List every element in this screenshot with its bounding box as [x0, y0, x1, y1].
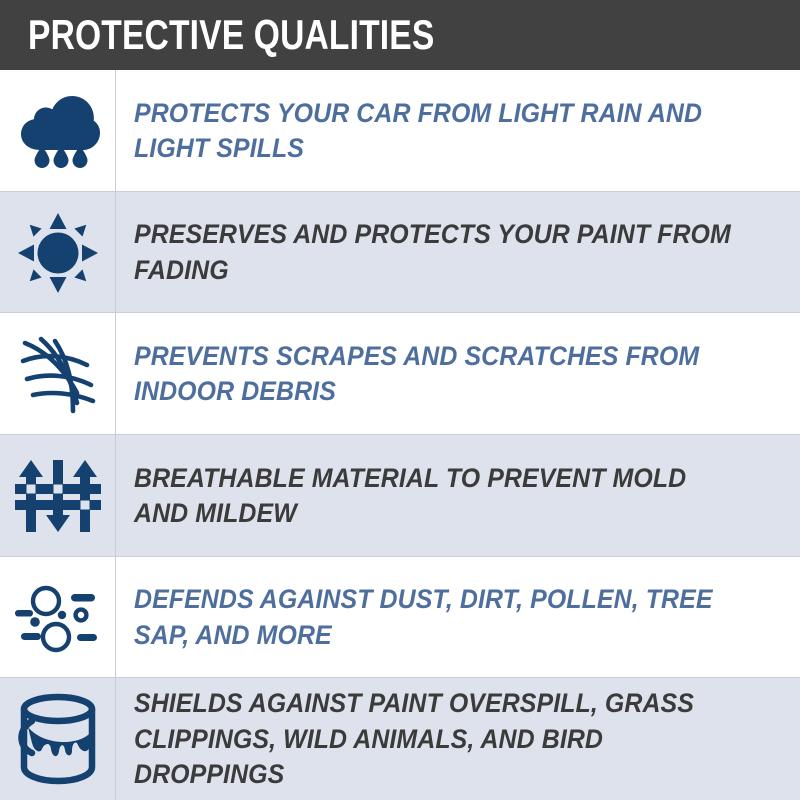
dust-particles-icon	[13, 581, 103, 655]
feature-text: BREATHABLE MATERIAL TO PREVENT MOLD AND …	[134, 461, 743, 531]
breathable-airflow-arrows-icon	[15, 458, 101, 534]
rain-cloud-icon	[16, 91, 100, 171]
paint-bucket-icon	[16, 693, 100, 785]
text-cell: PROTECTS YOUR CAR FROM LIGHT RAIN AND LI…	[116, 70, 800, 192]
icon-cell	[0, 313, 116, 435]
text-cell: PREVENTS SCRAPES AND SCRATCHES FROM INDO…	[116, 313, 800, 435]
feature-row-sun: PRESERVES AND PROTECTS YOUR PAINT FROM F…	[0, 192, 800, 314]
feature-row-rain: PROTECTS YOUR CAR FROM LIGHT RAIN AND LI…	[0, 70, 800, 192]
feature-row-paint: SHIELDS AGAINST PAINT OVERSPILL, GRASS C…	[0, 678, 800, 800]
text-cell: PRESERVES AND PROTECTS YOUR PAINT FROM F…	[116, 192, 800, 314]
feature-text: DEFENDS AGAINST DUST, DIRT, POLLEN, TREE…	[134, 582, 743, 652]
protective-qualities-infographic: PROTECTIVE QUALITIES PRO	[0, 0, 800, 800]
feature-text: PREVENTS SCRAPES AND SCRATCHES FROM INDO…	[134, 339, 743, 409]
header-bar: PROTECTIVE QUALITIES	[0, 0, 800, 70]
page-title: PROTECTIVE QUALITIES	[28, 14, 434, 56]
text-cell: BREATHABLE MATERIAL TO PREVENT MOLD AND …	[116, 435, 800, 557]
icon-cell	[0, 557, 116, 679]
feature-row-dust: DEFENDS AGAINST DUST, DIRT, POLLEN, TREE…	[0, 557, 800, 679]
feature-text: PRESERVES AND PROTECTS YOUR PAINT FROM F…	[134, 217, 743, 287]
icon-cell	[0, 678, 116, 800]
scratch-mesh-icon	[15, 331, 101, 417]
sun-icon	[18, 213, 98, 293]
feature-row-scratches: PREVENTS SCRAPES AND SCRATCHES FROM INDO…	[0, 313, 800, 435]
feature-list: PROTECTS YOUR CAR FROM LIGHT RAIN AND LI…	[0, 70, 800, 800]
icon-cell	[0, 192, 116, 314]
icon-cell	[0, 70, 116, 192]
feature-text: PROTECTS YOUR CAR FROM LIGHT RAIN AND LI…	[134, 96, 743, 166]
feature-text: SHIELDS AGAINST PAINT OVERSPILL, GRASS C…	[134, 686, 743, 792]
text-cell: DEFENDS AGAINST DUST, DIRT, POLLEN, TREE…	[116, 557, 800, 679]
text-cell: SHIELDS AGAINST PAINT OVERSPILL, GRASS C…	[116, 678, 800, 800]
icon-cell	[0, 435, 116, 557]
feature-row-breathable: BREATHABLE MATERIAL TO PREVENT MOLD AND …	[0, 435, 800, 557]
